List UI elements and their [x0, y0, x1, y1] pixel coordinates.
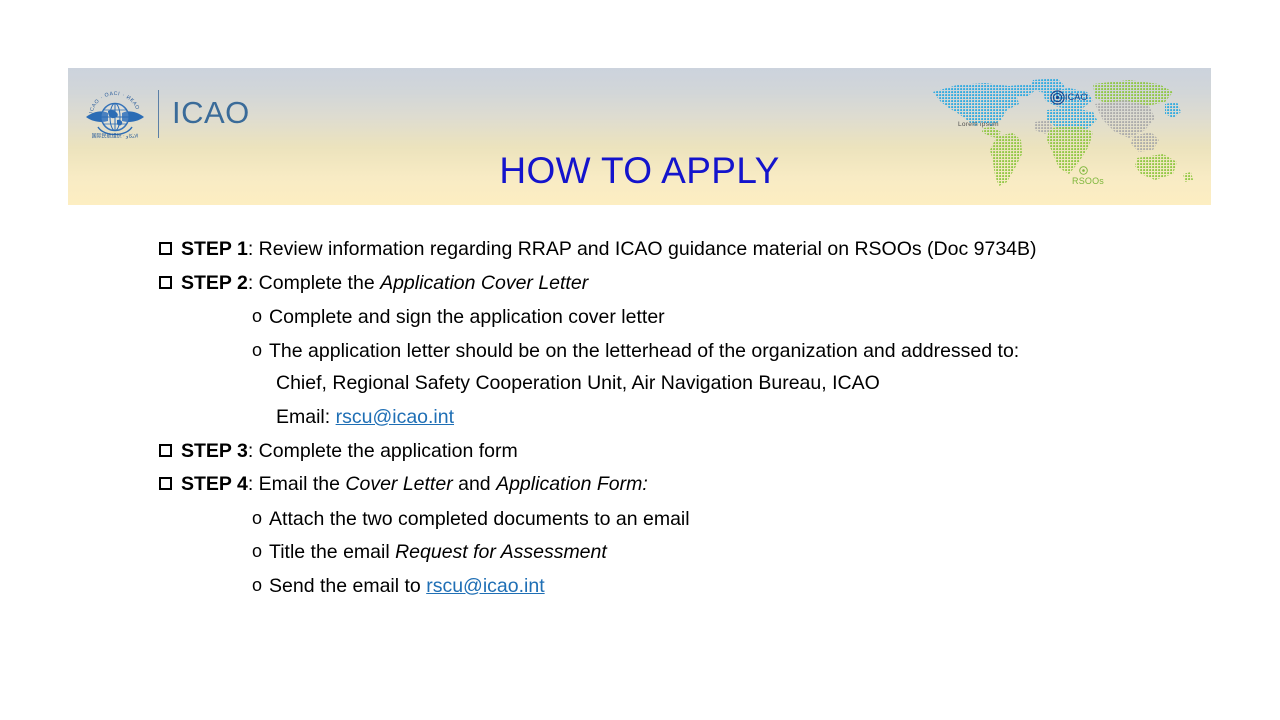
checkbox-square-bullet-icon — [159, 444, 172, 457]
body-text: and — [453, 473, 496, 495]
rsoos-map-marker-icon — [1079, 166, 1088, 175]
circle-o-bullet-icon: o — [252, 502, 262, 536]
logo-divider — [158, 90, 159, 138]
body-text: Email: — [276, 406, 336, 428]
body-line: STEP 1: Review information regarding RRA… — [0, 233, 1280, 267]
map-label-rsoos: RSOOs — [1072, 176, 1104, 186]
body-line: oComplete and sign the application cover… — [0, 300, 1280, 334]
step-label: STEP 3 — [181, 440, 248, 462]
email-link[interactable]: rscu@icao.int — [426, 575, 544, 597]
icao-logo: ICAO · OACI · ИКАО 国际民航组织 · ال — [84, 87, 264, 149]
checkbox-square-bullet-icon — [159, 242, 172, 255]
body-line: oTitle the email Request for Assessment — [0, 535, 1280, 569]
svg-text:国际民航组织 · الايكاو: 国际民航组织 · الايكاو — [92, 133, 139, 140]
body-line: oThe application letter should be on the… — [0, 334, 1280, 368]
body-text: : Complete the — [248, 272, 380, 294]
world-map-graphic: ICAO RSOOs Lorem ipsum — [897, 70, 1197, 200]
circle-o-bullet-icon: o — [252, 300, 262, 334]
body-text: Title the email — [269, 541, 395, 563]
body-text: : Complete the application form — [248, 440, 518, 462]
body-text: : Review information regarding RRAP and … — [248, 238, 1037, 260]
step-label: STEP 1 — [181, 238, 248, 260]
body-text: : Email the — [248, 473, 346, 495]
map-label-lorem-ipsum: Lorem ipsum — [958, 121, 999, 128]
icao-wordmark: ICAO — [172, 94, 250, 132]
body-line: STEP 3: Complete the application form — [0, 435, 1280, 469]
slide-body: STEP 1: Review information regarding RRA… — [0, 233, 1280, 603]
map-label-icao: ICAO — [1065, 92, 1088, 102]
email-link[interactable]: rscu@icao.int — [336, 406, 454, 428]
icao-map-marker-icon — [1050, 90, 1065, 105]
header-banner: ICAO · OACI · ИКАО 国际民航组织 · ال — [68, 68, 1211, 205]
checkbox-square-bullet-icon — [159, 276, 172, 289]
emphasized-text: Application Form: — [496, 473, 648, 495]
emphasized-text: Request for Assessment — [395, 541, 607, 563]
body-line: oSend the email to rscu@icao.int — [0, 569, 1280, 603]
emphasized-text: Application Cover Letter — [380, 272, 588, 294]
step-label: STEP 2 — [181, 272, 248, 294]
body-text: Chief, Regional Safety Cooperation Unit,… — [276, 372, 880, 394]
body-text: The application letter should be on the … — [269, 340, 1019, 362]
body-line: oAttach the two completed documents to a… — [0, 502, 1280, 536]
body-text: Attach the two completed documents to an… — [269, 508, 690, 530]
body-line: Chief, Regional Safety Cooperation Unit,… — [0, 367, 1280, 401]
body-line: STEP 2: Complete the Application Cover L… — [0, 267, 1280, 301]
icao-globe-wings-emblem: ICAO · OACI · ИКАО 国际民航组织 · ال — [84, 87, 146, 147]
body-line: Email: rscu@icao.int — [0, 401, 1280, 435]
circle-o-bullet-icon: o — [252, 535, 262, 569]
circle-o-bullet-icon: o — [252, 569, 262, 603]
body-text: Send the email to — [269, 575, 426, 597]
checkbox-square-bullet-icon — [159, 477, 172, 490]
body-line: STEP 4: Email the Cover Letter and Appli… — [0, 468, 1280, 502]
circle-o-bullet-icon: o — [252, 334, 262, 368]
body-text: Complete and sign the application cover … — [269, 306, 665, 328]
emphasized-text: Cover Letter — [345, 473, 452, 495]
step-label: STEP 4 — [181, 473, 248, 495]
